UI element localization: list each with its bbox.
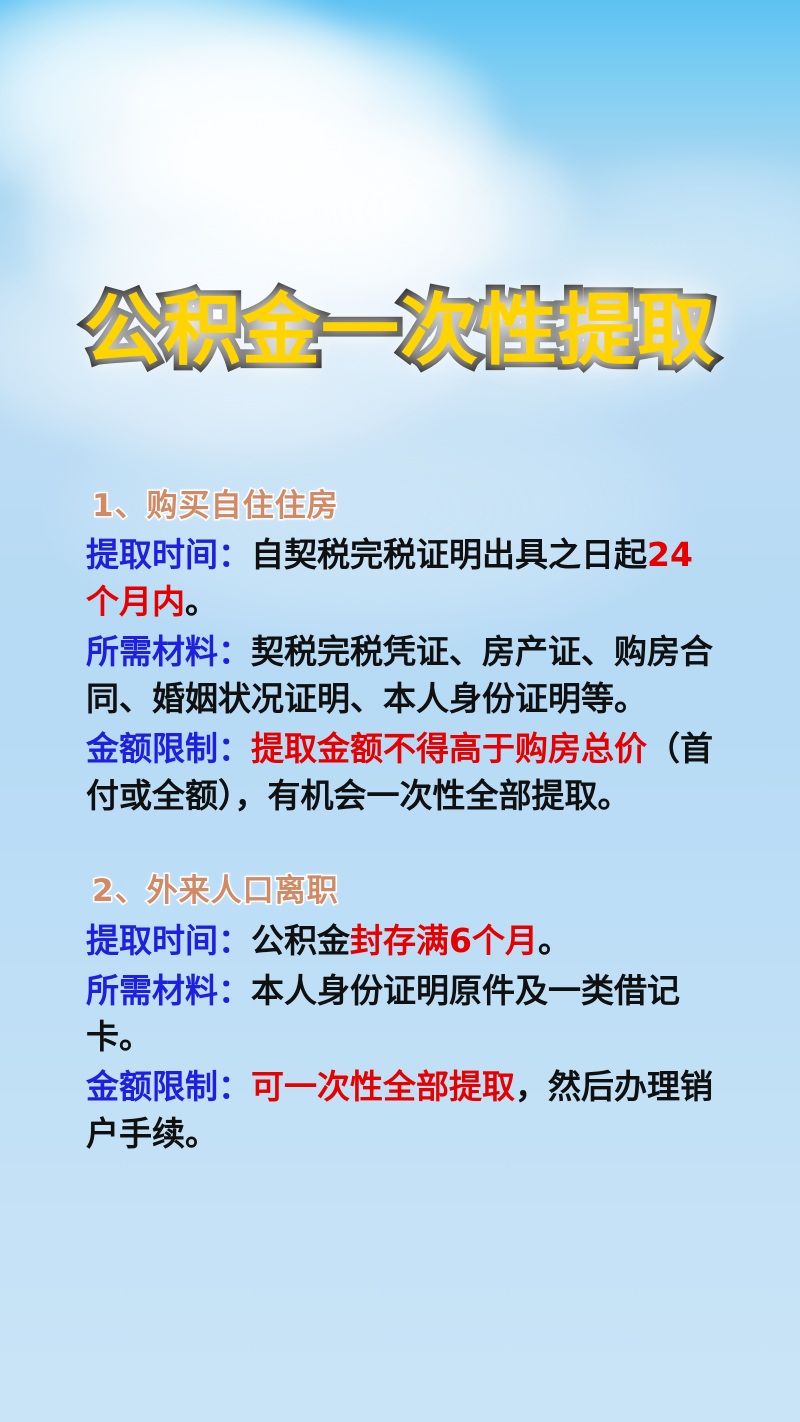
cloud-shape-icon [250,120,580,295]
info-row-label: 金额限制： [86,1067,251,1106]
info-row: 金额限制：可一次性全部提取，然后办理销户手续。 [86,1064,714,1158]
body-text: 。 [538,921,571,960]
info-row: 提取时间：自契税完税证明出具之日起24个月内。 [86,532,714,626]
title-container: 公积金一次性提取 [0,292,800,370]
body-text: 公积金 [251,921,350,960]
section-heading: 2、外来人口离职 [92,871,714,911]
info-row: 金额限制：提取金额不得高于购房总价（首付或全额），有机会一次性全部提取。 [86,726,714,820]
highlight-text: 提取金额不得高于购房总价 [251,729,647,768]
info-row-label: 金额限制： [86,729,251,768]
info-section: 1、购买自住住房提取时间：自契税完税证明出具之日起24个月内。所需材料：契税完税… [86,486,714,819]
content-body: 1、购买自住住房提取时间：自契税完税证明出具之日起24个月内。所需材料：契税完税… [86,486,714,1161]
info-row: 提取时间：公积金封存满6个月。 [86,918,714,965]
section-heading: 1、购买自住住房 [92,486,714,526]
info-row-label: 所需材料： [86,632,251,671]
page-title: 公积金一次性提取 [84,292,716,370]
poster-canvas: 公积金一次性提取 1、购买自住住房提取时间：自契税完税证明出具之日起24个月内。… [0,0,800,1422]
info-row: 所需材料：契税完税凭证、房产证、购房合同、婚姻状况证明、本人身份证明等。 [86,629,714,723]
info-row-label: 提取时间： [86,921,251,960]
info-row-label: 所需材料： [86,971,251,1010]
highlight-text: 封存满6个月 [350,921,538,960]
body-text: 自契税完税证明出具之日起 [251,535,647,574]
cloud-shape-icon [120,20,500,235]
info-row-label: 提取时间： [86,535,251,574]
highlight-text: 可一次性全部提取 [251,1067,515,1106]
info-row: 所需材料：本人身份证明原件及一类借记卡。 [86,968,714,1062]
body-text: 。 [185,582,218,621]
info-section: 2、外来人口离职提取时间：公积金封存满6个月。所需材料：本人身份证明原件及一类借… [86,871,714,1158]
cloud-shape-icon [0,0,370,220]
